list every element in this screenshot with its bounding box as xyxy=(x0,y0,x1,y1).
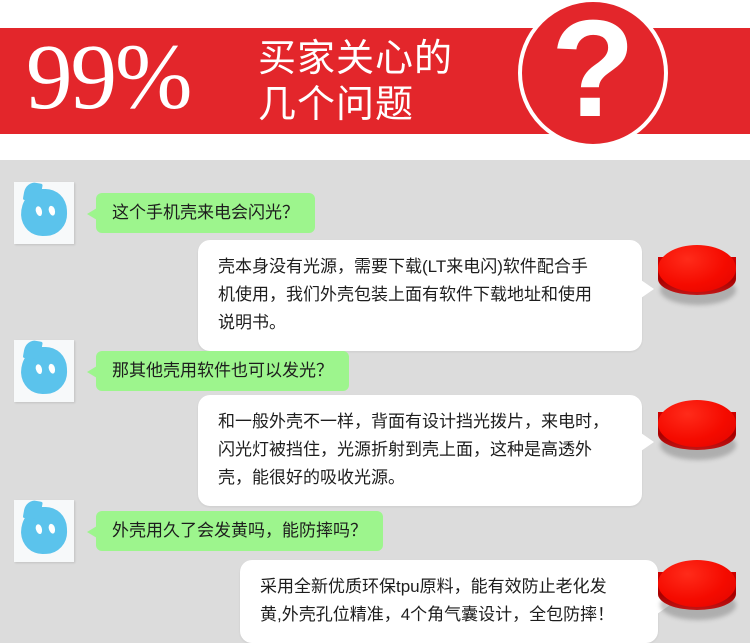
header-percent-text: 99% xyxy=(26,22,190,134)
answer-line: 闪光灯被挡住，光源折射到壳上面，这种是高透外 xyxy=(218,436,622,464)
bubble-tail-icon xyxy=(87,208,97,220)
avatar-eye-right-icon xyxy=(48,363,57,374)
header-title: 买家关心的 几个问题 xyxy=(258,36,453,128)
question-mark-badge: ? xyxy=(518,0,676,160)
avatar-eye-right-icon xyxy=(48,523,57,534)
answer-line: 黄,外壳孔位精准，4个角气囊设计，全包防摔！ xyxy=(260,601,638,629)
blue-droplet-icon xyxy=(20,506,68,555)
question-text: 外壳用久了会发黄吗，能防摔吗？ xyxy=(112,521,367,540)
question-text: 那其他壳用软件也可以发光？ xyxy=(112,361,333,380)
qa-block: 外壳用久了会发黄吗，能防摔吗？ 采用全新优质环保tpu原料，能有效防止老化发 黄… xyxy=(0,478,750,642)
red-button-top xyxy=(658,400,736,447)
answer-line: 壳本身没有光源，需要下载(LT来电闪)软件配合手 xyxy=(218,253,622,281)
blue-droplet-icon xyxy=(20,346,68,395)
answer-bubble: 采用全新优质环保tpu原料，能有效防止老化发 黄,外壳孔位精准，4个角气囊设计，… xyxy=(240,560,658,643)
avatar-eye-left-icon xyxy=(35,206,44,217)
avatar-eye-right-icon xyxy=(48,205,57,216)
avatar-eye-left-icon xyxy=(35,524,44,535)
qa-block: 那其他壳用软件也可以发光？ 和一般外壳不一样，背面有设计挡光拨片，来电时， 闪光… xyxy=(0,320,750,478)
red-button-top xyxy=(658,560,736,607)
answer-line: 机使用，我们外壳包装上面有软件下载地址和使用 xyxy=(218,281,622,309)
avatar xyxy=(14,500,74,562)
avatar-eye-left-icon xyxy=(35,364,44,375)
red-button-decoration xyxy=(658,245,736,307)
red-button-decoration xyxy=(658,400,736,462)
header-banner: 99% 买家关心的 几个问题 ? xyxy=(0,0,750,160)
answer-line: 和一般外壳不一样，背面有设计挡光拨片，来电时， xyxy=(218,408,622,436)
question-bubble: 外壳用久了会发黄吗，能防摔吗？ xyxy=(96,511,383,551)
question-bubble: 这个手机壳来电会闪光？ xyxy=(96,193,315,233)
question-bubble: 那其他壳用软件也可以发光？ xyxy=(96,351,349,391)
faq-chat-area: 这个手机壳来电会闪光？ 壳本身没有光源，需要下载(LT来电闪)软件配合手 机使用… xyxy=(0,160,750,642)
bubble-tail-icon xyxy=(641,433,654,451)
avatar xyxy=(14,340,74,402)
question-text: 这个手机壳来电会闪光？ xyxy=(112,203,299,222)
bubble-tail-icon xyxy=(87,526,97,538)
blue-droplet-icon xyxy=(20,188,68,237)
header-title-line2: 几个问题 xyxy=(258,82,453,128)
red-button-top xyxy=(658,245,736,292)
header-title-line1: 买家关心的 xyxy=(258,36,453,82)
qa-block: 这个手机壳来电会闪光？ 壳本身没有光源，需要下载(LT来电闪)软件配合手 机使用… xyxy=(0,160,750,320)
bubble-tail-icon xyxy=(641,280,654,298)
red-button-decoration xyxy=(658,560,736,622)
bubble-tail-icon xyxy=(87,366,97,378)
avatar xyxy=(14,182,74,244)
answer-line: 采用全新优质环保tpu原料，能有效防止老化发 xyxy=(260,573,638,601)
question-mark-icon: ? xyxy=(518,0,668,144)
